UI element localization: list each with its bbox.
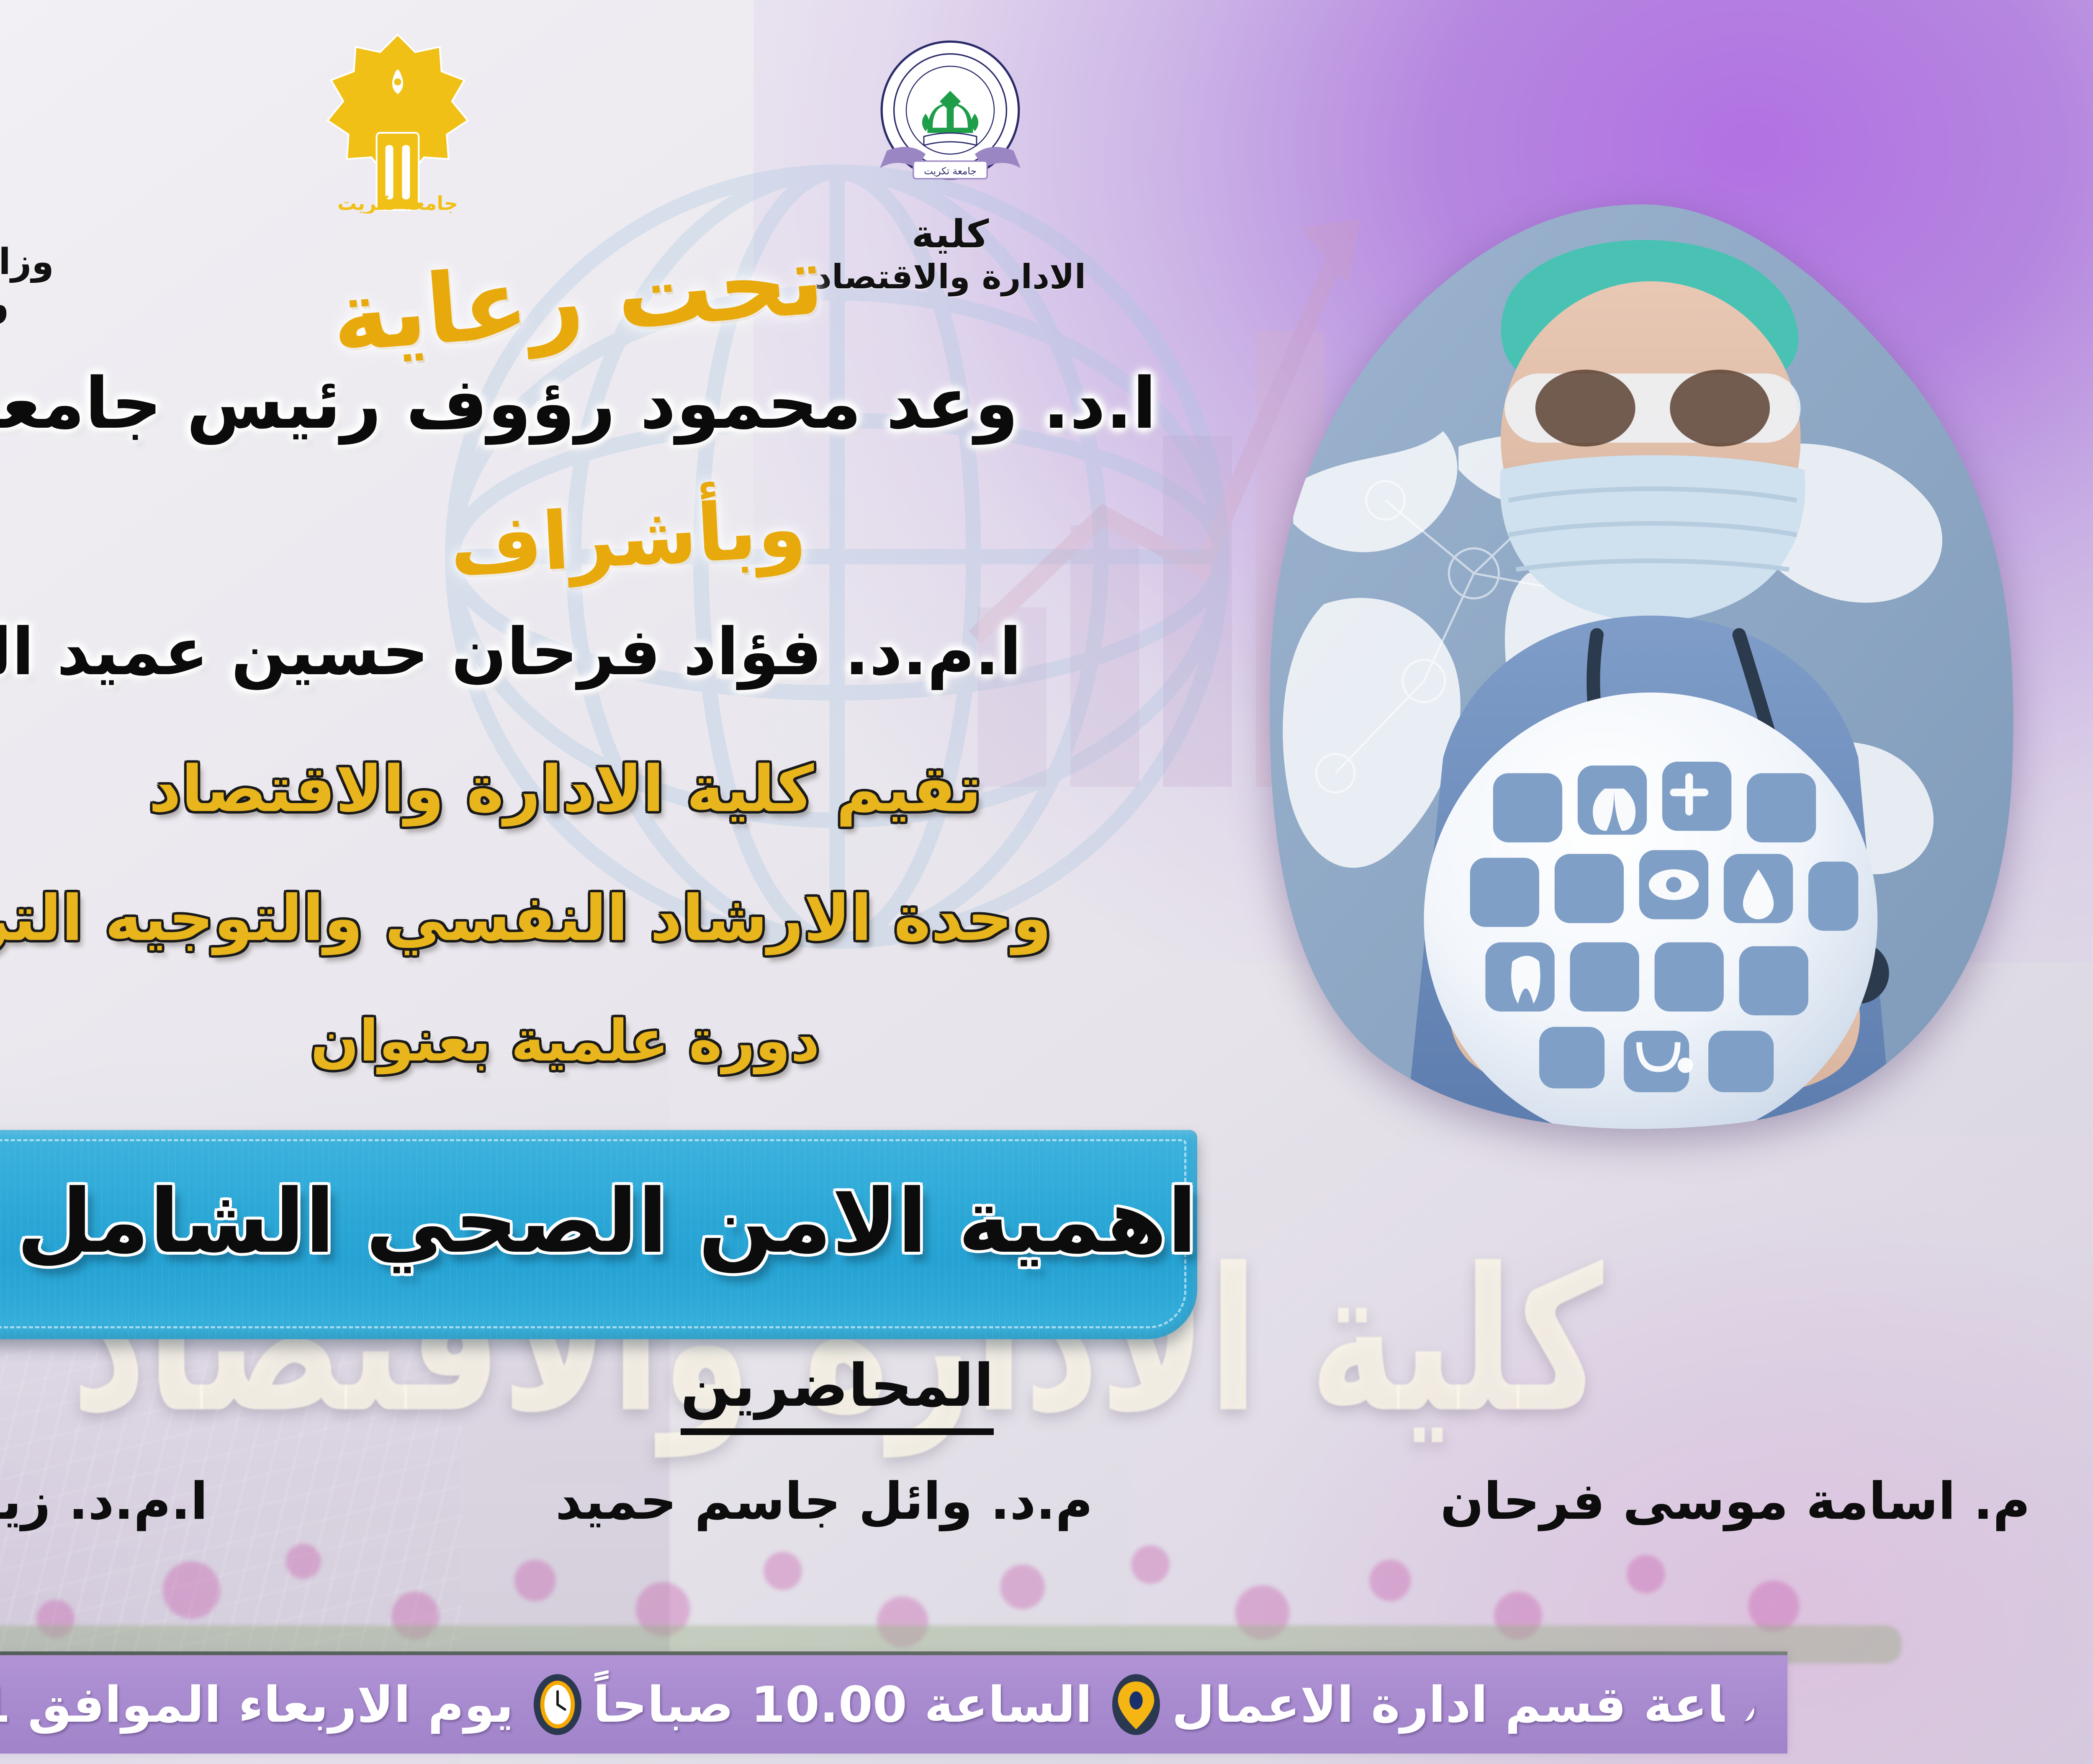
- time-item: الساعة 10.00 صباحاً: [533, 1673, 1093, 1736]
- college-of-administration-and-economics-logo: جامعة تكريت College of Administration & …: [862, 29, 1038, 205]
- lecturers-row: م. اسامة موسى فرحان م.د. وائل جاسم حميد …: [0, 1473, 2030, 1529]
- svg-text:College of Administration & Ec: College of Administration & Economics: [862, 29, 865, 31]
- ministry-caption-line1: وزارة التعليم العالي: [0, 241, 54, 283]
- location-pin-icon: [1111, 1673, 1161, 1736]
- university-logo-block: جامعة تكريت: [268, 29, 527, 213]
- course-title-text: اهمية الامن الصحي الشامل للمجتمع: [0, 1170, 1197, 1273]
- tikrit-university-logo: جامعة تكريت: [308, 29, 488, 213]
- bottom-bar-rule: [0, 1651, 1787, 1655]
- ministry-logo-block: Ministry of Higher Education and Scienti…: [0, 33, 67, 326]
- organizing-unit-line: وحدة الارشاد النفسي والتوجيه التربوي: [0, 887, 1164, 950]
- lecturers-heading-text: المحاضرين: [681, 1352, 994, 1435]
- ministry-caption-line2: والبحث العلمي: [0, 283, 67, 326]
- event-details-bar: قاعة قسم ادارة الاعمال الساعة 10.00 صباح…: [0, 1655, 1787, 1754]
- medical-hero-image: [1256, 197, 2030, 1138]
- date-text: يوم الاربعاء الموافق 1 - 2026/4/2: [0, 1680, 514, 1729]
- president-name: ا.د. وعد محمود رؤوف رئيس جامعة تكريت: [0, 368, 1172, 439]
- college-ribbon-text: جامعة تكريت: [924, 166, 977, 177]
- university-wordmark: جامعة تكريت: [337, 192, 458, 213]
- course-title-banner: اهمية الامن الصحي الشامل للمجتمع: [0, 1130, 1197, 1364]
- ministry-caption: وزارة التعليم العالي والبحث العلمي: [0, 241, 67, 326]
- dean-name: ا.م.د. فؤاد فرحان حسين عميد الكلية: [0, 619, 1109, 684]
- venue-text: قاعة قسم ادارة الاعمال: [1172, 1680, 1758, 1729]
- poster-root: كلية الادارة والاقتصاد: [0, 0, 2093, 1764]
- time-text: الساعة 10.00 صباحاً: [593, 1680, 1093, 1729]
- organizer-line: تقيم كلية الادارة والاقتصاد: [0, 757, 1172, 821]
- lecturer-name-2: م.د. وائل جاسم حميد: [555, 1473, 1093, 1529]
- lecturer-name-1: ا.م.د. زياد عزالدين طه: [0, 1473, 208, 1529]
- date-item: يوم الاربعاء الموافق 1 - 2026/4/2: [0, 1673, 514, 1736]
- lecturers-heading: المحاضرين: [0, 1352, 2093, 1435]
- course-type-line: دورة علمية بعنوان: [63, 1013, 1067, 1070]
- lecturer-name-3: م. اسامة موسى فرحان: [1440, 1473, 2030, 1529]
- clock-icon: [533, 1673, 582, 1736]
- venue-item: قاعة قسم ادارة الاعمال: [1111, 1673, 1758, 1736]
